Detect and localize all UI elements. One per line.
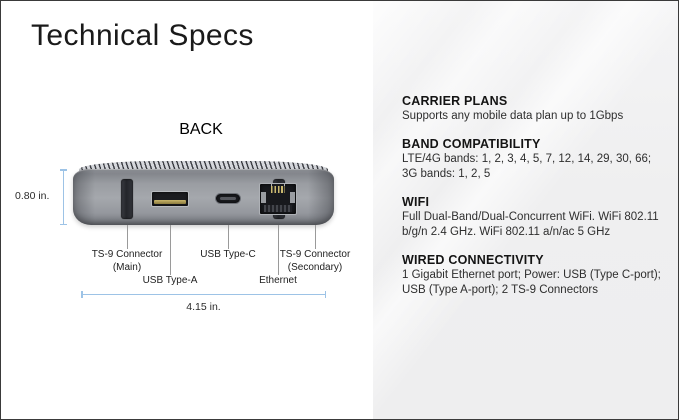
spec-block-wired-connectivity: WIRED CONNECTIVITY 1 Gigabit Ethernet po… bbox=[402, 253, 666, 299]
spec-heading-carrier-plans: CARRIER PLANS bbox=[402, 94, 666, 108]
view-label-back: BACK bbox=[166, 121, 236, 139]
height-dimension-label: 0.80 in. bbox=[15, 190, 49, 202]
width-dimension-line bbox=[81, 294, 326, 295]
ethernet-inner-shadow bbox=[264, 205, 292, 212]
callout-ts9-secondary: TS-9 Connector (Secondary) bbox=[245, 249, 385, 274]
spec-heading-wired-connectivity: WIRED CONNECTIVITY bbox=[402, 253, 666, 267]
height-dimension-cap-top bbox=[60, 169, 67, 171]
height-dimension-line bbox=[63, 169, 64, 225]
callout-usb-a: USB Type-A bbox=[110, 275, 230, 288]
callout-ethernet: Ethernet bbox=[218, 275, 338, 288]
spec-body-wired-connectivity: 1 Gigabit Ethernet port; Power: USB (Typ… bbox=[402, 268, 664, 299]
width-dimension-cap-right bbox=[325, 291, 327, 298]
spec-list: CARRIER PLANS Supports any mobile data p… bbox=[402, 94, 666, 299]
technical-specs-page: Technical Specs BACK bbox=[0, 0, 679, 420]
usb-type-a-port bbox=[151, 191, 189, 207]
leader-line-ts9-secondary bbox=[315, 225, 316, 249]
height-dimension-cap-bottom bbox=[60, 224, 67, 226]
width-dimension-cap-left bbox=[81, 291, 83, 298]
spec-heading-wifi: WIFI bbox=[402, 195, 666, 209]
ts9-connector-main-cover bbox=[121, 179, 133, 219]
leader-line-usb-c bbox=[228, 225, 229, 249]
diagram-panel: Technical Specs BACK bbox=[1, 1, 373, 419]
spec-block-band-compatibility: BAND COMPATIBILITY LTE/4G bands: 1, 2, 3… bbox=[402, 137, 666, 183]
callout-ts9-main-line2: (Main) bbox=[57, 262, 197, 275]
usb-c-contact-tongue bbox=[220, 197, 236, 200]
callout-ethernet-line1: Ethernet bbox=[218, 275, 338, 288]
callout-ts9-secondary-line2: (Secondary) bbox=[245, 262, 385, 275]
page-title: Technical Specs bbox=[31, 19, 254, 53]
callout-usb-a-line1: USB Type-A bbox=[110, 275, 230, 288]
ethernet-gold-pins bbox=[271, 186, 285, 193]
spec-body-carrier-plans: Supports any mobile data plan up to 1Gbp… bbox=[402, 109, 664, 125]
ethernet-side-right bbox=[290, 192, 295, 203]
spec-body-band-compatibility: LTE/4G bands: 1, 2, 3, 4, 5, 7, 12, 14, … bbox=[402, 152, 664, 183]
device-illustration bbox=[73, 161, 334, 225]
width-dimension-label: 4.15 in. bbox=[81, 301, 326, 313]
spec-heading-band-compatibility: BAND COMPATIBILITY bbox=[402, 137, 666, 151]
device-back-panel bbox=[73, 169, 334, 225]
spec-block-wifi: WIFI Full Dual-Band/Dual-Concurrent WiFi… bbox=[402, 195, 666, 241]
ethernet-side-left bbox=[261, 192, 266, 203]
leader-line-ts9-main bbox=[127, 225, 128, 249]
spec-body-wifi: Full Dual-Band/Dual-Concurrent WiFi. WiF… bbox=[402, 210, 664, 241]
ethernet-rj45-port bbox=[259, 183, 297, 215]
spec-block-carrier-plans: CARRIER PLANS Supports any mobile data p… bbox=[402, 94, 666, 125]
specs-panel: CARRIER PLANS Supports any mobile data p… bbox=[373, 1, 678, 419]
usb-type-c-port bbox=[215, 193, 241, 204]
callout-ts9-secondary-line1: TS-9 Connector bbox=[245, 249, 385, 262]
usb-a-contact-tongue bbox=[154, 200, 186, 204]
